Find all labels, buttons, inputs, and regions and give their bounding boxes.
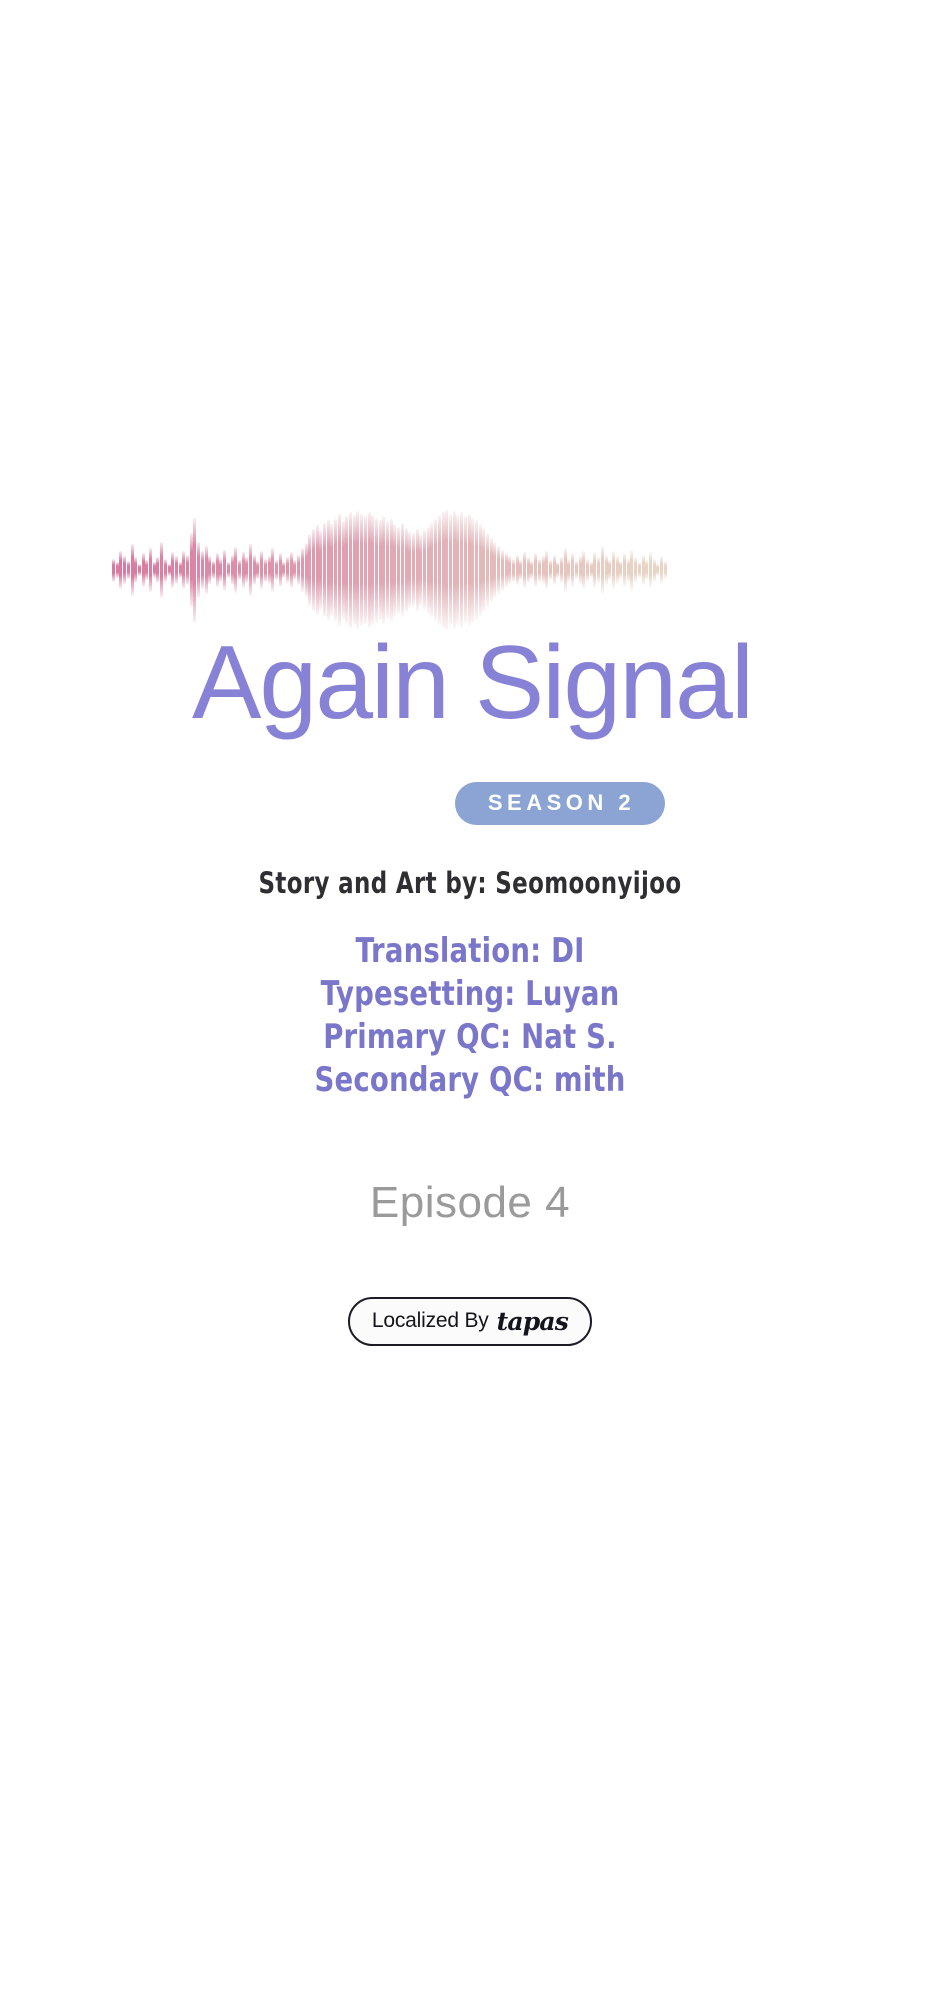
waveform-bar [264, 559, 267, 582]
waveform-bar [245, 557, 248, 583]
credit-line: Translation: DI [47, 930, 893, 973]
waveform-bar [390, 519, 393, 621]
waveform-bar [368, 512, 371, 627]
waveform-bar [142, 553, 145, 586]
tapas-logo: tapas [497, 1309, 569, 1334]
waveform-bar [642, 555, 645, 586]
waveform-bar [527, 557, 530, 583]
credit-line: Primary QC: Nat S. [47, 1016, 893, 1059]
waveform-bar [586, 559, 589, 582]
waveform-bar [638, 562, 641, 577]
waveform-bar [231, 555, 234, 586]
waveform-bar [412, 533, 415, 607]
waveform-bar [190, 533, 193, 607]
waveform-bar [382, 516, 385, 624]
waveform-bar [442, 512, 445, 627]
waveform-bar [427, 527, 430, 614]
waveform-bar [297, 555, 300, 586]
waveform-bar [268, 556, 271, 584]
waveform-bar [419, 534, 422, 606]
webtoon-title-page: Again Signal SEASON 2 Story and Art by: … [0, 0, 940, 1989]
waveform-bar [634, 557, 637, 583]
waveform-bar [338, 514, 341, 627]
waveform-bar [516, 555, 519, 586]
waveform-bar [593, 552, 596, 588]
waveform-bar [327, 520, 330, 620]
waveform-bar [208, 556, 211, 584]
waveform-bar [434, 519, 437, 621]
waveform-bar [553, 555, 556, 586]
waveform-bar [282, 562, 285, 577]
page-title: Again Signal [0, 630, 940, 736]
waveform-bar [523, 552, 526, 588]
waveform-bar [119, 551, 122, 589]
waveform-bar [330, 524, 333, 616]
waveform-bar [534, 553, 537, 586]
waveform-bar [616, 556, 619, 584]
waveform-bar [290, 552, 293, 588]
waveform-bar [308, 534, 311, 606]
season-badge: SEASON 2 [455, 782, 665, 825]
waveform-bar [475, 520, 478, 620]
waveform-bar [430, 523, 433, 618]
waveform-bars [112, 500, 668, 640]
waveform-bar [623, 553, 626, 586]
waveform-bar [360, 514, 363, 627]
waveform-bar [219, 559, 222, 582]
waveform-bar [293, 560, 296, 581]
waveform-bar [627, 559, 630, 582]
localization-credits: Translation: DITypesetting: LuyanPrimary… [0, 930, 940, 1102]
waveform-bar [542, 556, 545, 584]
waveform-bar [530, 561, 533, 579]
waveform-bar [571, 553, 574, 586]
waveform-bar [453, 511, 456, 629]
waveform-bar [275, 560, 278, 581]
waveform-bar [168, 564, 171, 577]
waveform-bar [482, 528, 485, 613]
waveform-bar [334, 519, 337, 621]
waveform-bar [205, 546, 208, 595]
waveform-bar [464, 516, 467, 624]
tapas-badge: Localized By tapas [348, 1297, 592, 1346]
waveform-bar [579, 556, 582, 584]
waveform-bar [619, 561, 622, 579]
waveform-bar [468, 514, 471, 627]
waveform-bar [279, 553, 282, 586]
waveform-bar [612, 551, 615, 589]
waveform-graphic [0, 500, 940, 640]
waveform-bar [242, 552, 245, 588]
waveform-bar [408, 532, 411, 609]
waveform-bar [260, 551, 263, 589]
waveform-bar [497, 546, 500, 595]
waveform-bar [234, 547, 237, 593]
waveform-bar [112, 559, 115, 582]
waveform-bar [312, 529, 315, 611]
waveform-bar [567, 559, 570, 582]
waveform-bar [471, 518, 474, 623]
waveform-bar [375, 518, 378, 623]
waveform-bar [353, 515, 356, 625]
waveform-bar [134, 557, 137, 583]
waveform-bar [116, 562, 119, 577]
waveform-bar [171, 552, 174, 588]
waveform-bar [493, 542, 496, 598]
credit-line: Typesetting: Luyan [47, 973, 893, 1016]
waveform-bar [645, 560, 648, 581]
waveform-bar [345, 516, 348, 624]
waveform-bar [316, 525, 319, 615]
waveform-bar [416, 529, 419, 611]
waveform-bar [349, 512, 352, 627]
tapas-badge-prefix: Localized By [372, 1310, 489, 1331]
waveform-bar [153, 562, 156, 577]
waveform-bar [179, 562, 182, 577]
waveform-bar [386, 521, 389, 618]
waveform-bar [445, 510, 448, 630]
tapas-badge-row: Localized By tapas [0, 1297, 940, 1346]
waveform-bar [664, 561, 667, 579]
waveform-bar [605, 555, 608, 586]
waveform-bar [249, 544, 252, 595]
waveform-bar [193, 518, 196, 623]
waveform-bar [501, 550, 504, 591]
waveform-bar [301, 548, 304, 592]
waveform-bar [253, 555, 256, 586]
waveform-bar [401, 523, 404, 618]
waveform-bar [397, 527, 400, 614]
waveform-bar [160, 542, 163, 598]
title-block: Again Signal [0, 630, 940, 736]
waveform-bar [323, 523, 326, 618]
waveform-bar [505, 553, 508, 586]
waveform-bar [145, 560, 148, 581]
waveform-bar [601, 546, 604, 595]
credit-line: Secondary QC: mith [47, 1059, 893, 1102]
waveform-bar [538, 559, 541, 582]
waveform-bar [131, 544, 134, 595]
waveform-bar [519, 560, 522, 581]
waveform-bar [423, 530, 426, 609]
waveform-bar [490, 538, 493, 602]
waveform-bar [564, 548, 567, 592]
waveform-bar [223, 550, 226, 591]
waveform-bar [342, 521, 345, 618]
waveform-bar [486, 533, 489, 607]
waveform-bar [286, 557, 289, 583]
waveform-bar [575, 561, 578, 579]
waveform-bar [164, 559, 167, 582]
waveform-bar [582, 551, 585, 589]
season-row: SEASON 2 [0, 782, 940, 825]
waveform-bar [393, 524, 396, 616]
waveform-bar [630, 550, 633, 591]
waveform-bar [608, 560, 611, 581]
waveform-bar [186, 555, 189, 586]
waveform-bar [356, 511, 359, 629]
waveform-bar [364, 516, 367, 624]
waveform-bar [271, 548, 274, 592]
waveform-bar [456, 515, 459, 625]
waveform-bar [653, 559, 656, 582]
waveform-bar [138, 564, 141, 577]
waveform-bar [560, 557, 563, 583]
waveform-bar [545, 551, 548, 589]
waveform-bar [371, 515, 374, 625]
waveform-bar [175, 556, 178, 584]
waveform-bar [438, 515, 441, 625]
waveform-bar [379, 520, 382, 620]
waveform-bar [460, 512, 463, 627]
waveform-bar [556, 562, 559, 577]
episode-label: Episode 4 [0, 1178, 940, 1228]
waveform-bar [216, 553, 219, 586]
story-art-credit: Story and Art by: Seomoonyijoo [56, 866, 883, 900]
waveform-bar [512, 559, 515, 582]
waveform-bar [127, 561, 130, 579]
waveform-bar [405, 528, 408, 613]
waveform-bar [549, 560, 552, 581]
waveform-bar [508, 556, 511, 584]
waveform-bar [649, 552, 652, 588]
waveform-bar [227, 562, 230, 577]
waveform-bar [660, 556, 663, 584]
waveform-bar [597, 557, 600, 583]
waveform-bar [256, 561, 259, 579]
waveform-bar [156, 557, 159, 583]
waveform-bar [149, 548, 152, 592]
waveform-bar [319, 530, 322, 609]
waveform-bar [182, 551, 185, 589]
waveform-bar [305, 543, 308, 597]
waveform-bar [656, 564, 659, 577]
waveform-bar [197, 542, 200, 598]
waveform-bar [479, 524, 482, 616]
waveform-bar [238, 560, 241, 581]
waveform-bar [201, 551, 204, 589]
waveform-bar [590, 562, 593, 577]
waveform-bar [123, 556, 126, 584]
waveform-bar [449, 514, 452, 627]
waveform-bar [212, 561, 215, 579]
